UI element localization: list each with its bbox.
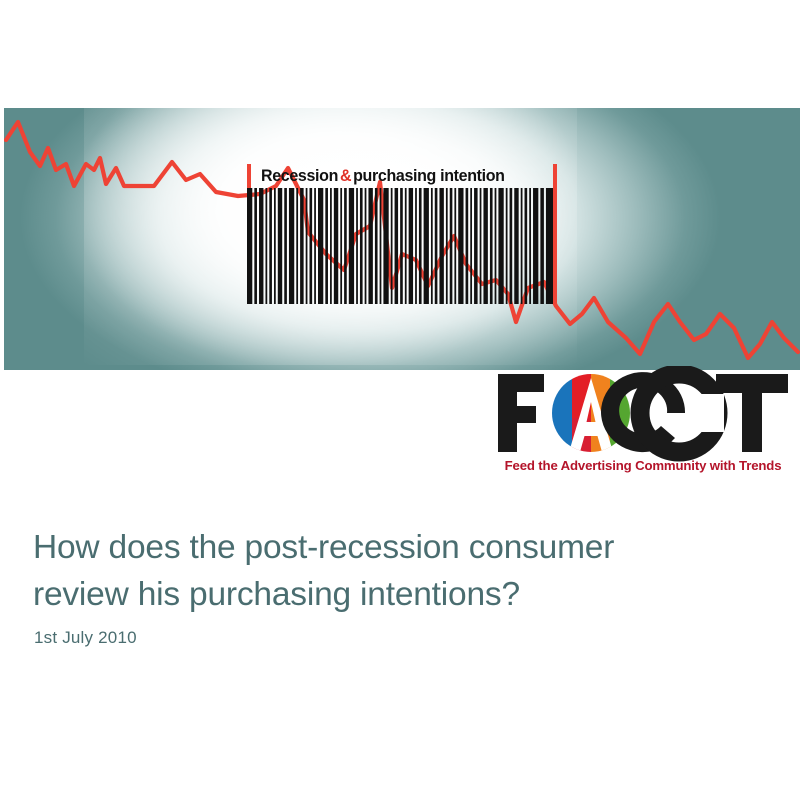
logo-tagline: Feed the Advertising Community with Tren… (492, 458, 794, 473)
barcode-bars (247, 188, 553, 304)
barcode-bar (506, 188, 508, 304)
barcode-bar (435, 188, 438, 304)
barcode-bar (349, 188, 354, 304)
barcode-bar (540, 188, 544, 304)
barcode-bar (306, 188, 308, 304)
barcode-bar (446, 188, 448, 304)
barcode-bar (466, 188, 469, 304)
barcode-bar (510, 188, 513, 304)
barcode-bar (546, 188, 553, 304)
barcode-bar (383, 188, 388, 304)
barcode-bar (490, 188, 493, 304)
barcode-bar (278, 188, 282, 304)
barcode-bar (300, 188, 304, 304)
barcode-bar (495, 188, 497, 304)
page-title-line-2: review his purchasing intentions? (33, 571, 753, 618)
barcode-bar (400, 188, 403, 304)
barcode-bar (375, 188, 378, 304)
page-title-line-1: How does the post-recession consumer (33, 524, 753, 571)
barcode-bar (284, 188, 287, 304)
barcode-bar (450, 188, 453, 304)
barcode-bar (483, 188, 487, 304)
barcode-bar (325, 188, 328, 304)
barcode-bar (360, 188, 363, 304)
barcode-bar (525, 188, 528, 304)
barcode-bar (340, 188, 342, 304)
barcode-bar (247, 188, 252, 304)
barcode-bar (474, 188, 478, 304)
barcode-bar (344, 188, 347, 304)
barcode-bar (380, 188, 382, 304)
barcode-bar (296, 188, 298, 304)
barcode-bar (318, 188, 323, 304)
barcode-bar (259, 188, 263, 304)
barcode-bar (309, 188, 312, 304)
barcode-bar (269, 188, 272, 304)
barcode-bar (368, 188, 372, 304)
barcode-bar (265, 188, 267, 304)
barcode-headline-prefix: Recession (261, 167, 338, 186)
barcode-bar (480, 188, 482, 304)
barcode-bar (458, 188, 463, 304)
barcode-bar (529, 188, 531, 304)
fact-logo: Feed the Advertising Community with Tren… (492, 366, 794, 481)
barcode-bar (470, 188, 472, 304)
barcode-bar (409, 188, 413, 304)
barcode-bar (356, 188, 358, 304)
barcode-bar (415, 188, 417, 304)
barcode-bar (274, 188, 276, 304)
barcode-bar (395, 188, 399, 304)
barcode-bar (419, 188, 422, 304)
barcode-bar (439, 188, 443, 304)
barcode-bar (365, 188, 367, 304)
barcode-graphic: Recession & purchasing intention (247, 164, 553, 304)
barcode-bar (289, 188, 294, 304)
logo-wedge-blue (552, 374, 572, 452)
barcode-bar (498, 188, 503, 304)
barcode-bar (431, 188, 433, 304)
logo-letter-f (498, 374, 544, 452)
barcode-bar (254, 188, 257, 304)
page-title: How does the post-recession consumer rev… (33, 524, 753, 618)
slide-canvas: Recession & purchasing intention (0, 0, 800, 800)
barcode-bar (533, 188, 538, 304)
barcode-bar (424, 188, 429, 304)
barcode-bar (334, 188, 338, 304)
barcode-bar (521, 188, 523, 304)
barcode-headline-ampersand: & (338, 167, 353, 186)
barcode-bar (314, 188, 316, 304)
barcode-headline: Recession & purchasing intention (261, 164, 538, 189)
barcode-bar (391, 188, 393, 304)
presentation-date: 1st July 2010 (34, 628, 137, 648)
barcode-bar (454, 188, 456, 304)
barcode-bar (330, 188, 332, 304)
barcode-bar (405, 188, 407, 304)
barcode-bar (514, 188, 518, 304)
barcode-headline-suffix: purchasing intention (353, 167, 504, 186)
